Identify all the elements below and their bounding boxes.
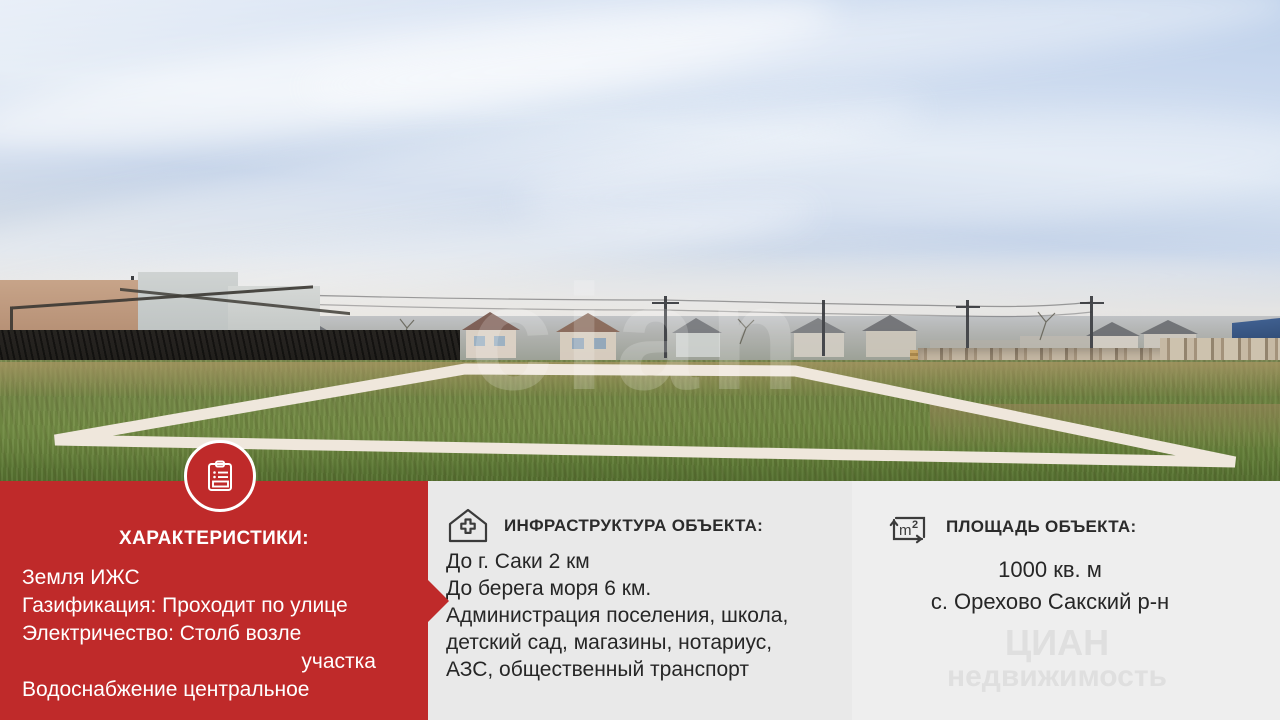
infrastructure-header: ИНФРАСТРУКТУРА ОБЪЕКТА: bbox=[446, 506, 844, 546]
panel-watermark: ЦИАН недвижимость bbox=[892, 626, 1222, 694]
infrastructure-line: Администрация поселения, школа, bbox=[446, 602, 844, 629]
listing-card: cian ХАРАКТЕРИСТИКИ: Земля ИЖС Га bbox=[0, 0, 1280, 720]
clipboard-checklist-icon bbox=[203, 459, 237, 493]
characteristics-line: участка bbox=[22, 648, 418, 676]
area-title: ПЛОЩАДЬ ОБЪЕКТА: bbox=[946, 517, 1136, 537]
panel-watermark-top: ЦИАН bbox=[892, 626, 1222, 660]
characteristics-title: ХАРАКТЕРИСТИКИ: bbox=[10, 528, 418, 550]
svg-text:m: m bbox=[899, 522, 912, 539]
infrastructure-line: До г. Саки 2 км bbox=[446, 548, 844, 575]
property-photo: cian bbox=[0, 0, 1280, 482]
area-line: с. Орехово Сакский р-н bbox=[880, 586, 1220, 618]
infrastructure-line: АЗС, общественный транспорт bbox=[446, 656, 844, 683]
infrastructure-line: детский сад, магазины, нотариус, bbox=[446, 629, 844, 656]
square-meters-icon: m 2 bbox=[886, 506, 932, 548]
infrastructure-panel: ИНФРАСТРУКТУРА ОБЪЕКТА: До г. Саки 2 км … bbox=[428, 481, 852, 720]
area-header: m 2 ПЛОЩАДЬ ОБЪЕКТА: bbox=[880, 506, 1266, 548]
infrastructure-line: До берега моря 6 км. bbox=[446, 575, 844, 602]
characteristics-line: Газификация: Проходит по улице bbox=[22, 592, 418, 620]
characteristics-list: Земля ИЖС Газификация: Проходит по улице… bbox=[10, 564, 418, 704]
svg-text:2: 2 bbox=[912, 519, 918, 531]
characteristics-panel: ХАРАКТЕРИСТИКИ: Земля ИЖС Газификация: П… bbox=[0, 481, 428, 720]
house-with-cross-icon bbox=[446, 506, 490, 546]
area-panel: m 2 ПЛОЩАДЬ ОБЪЕКТА: 1000 кв. м с. Орехо… bbox=[852, 481, 1280, 720]
characteristics-line: Электричество: Столб возле bbox=[22, 620, 418, 648]
characteristics-line: Водоснабжение центральное bbox=[22, 676, 418, 704]
characteristics-line: Земля ИЖС bbox=[22, 564, 418, 592]
red-arrow-pointer bbox=[427, 579, 449, 623]
panel-watermark-bottom: недвижимость bbox=[892, 660, 1222, 694]
clipboard-badge bbox=[184, 440, 256, 512]
infrastructure-list: До г. Саки 2 км До берега моря 6 км. Адм… bbox=[446, 548, 844, 683]
area-values: 1000 кв. м с. Орехово Сакский р-н bbox=[880, 550, 1266, 618]
infrastructure-title: ИНФРАСТРУКТУРА ОБЪЕКТА: bbox=[504, 516, 763, 536]
plot-boundary-outline bbox=[0, 0, 1280, 482]
info-bar: ХАРАКТЕРИСТИКИ: Земля ИЖС Газификация: П… bbox=[0, 481, 1280, 720]
area-line: 1000 кв. м bbox=[880, 554, 1220, 586]
